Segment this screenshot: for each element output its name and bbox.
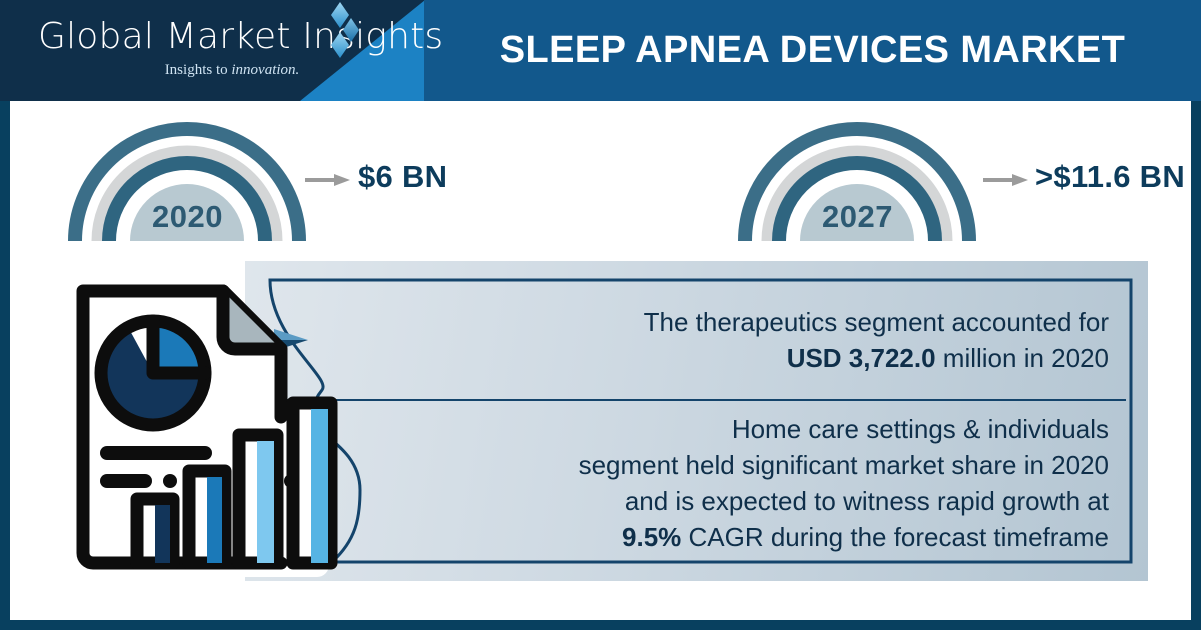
infographic-page: Global Market Insights Insights to innov… — [0, 0, 1201, 630]
logo-tagline-plain: Insights to — [165, 62, 232, 78]
insight-segment: Home care settings & individuals — [732, 414, 1109, 444]
insight-segment-bold: 9.5% — [622, 522, 681, 552]
insight-segment-bold: USD 3,722.0 — [787, 343, 936, 373]
metric-2020: 2020 $6 BN — [65, 115, 485, 265]
insight-segment: million in 2020 — [936, 343, 1109, 373]
report-document-icon — [65, 277, 345, 577]
insight-line: Home care settings & individuals — [322, 411, 1109, 447]
insight-line: USD 3,722.0 million in 2020 — [322, 340, 1109, 376]
insights-list: The therapeutics segment accounted for U… — [260, 278, 1133, 564]
insight-text-1: The therapeutics segment accounted for U… — [322, 304, 1133, 376]
insight-line: and is expected to witness rapid growth … — [322, 483, 1109, 519]
insight-segment: CAGR during the forecast timeframe — [681, 522, 1109, 552]
page-title: SLEEP APNEA DEVICES MARKET — [424, 0, 1201, 101]
metric-value-2027: >$11.6 BN — [1035, 159, 1185, 195]
metric-year-2027: 2027 — [735, 115, 980, 243]
metric-2027: 2027 >$11.6 BN — [735, 115, 1190, 265]
arrow-right-icon — [305, 173, 351, 187]
arrow-right-icon — [983, 173, 1029, 187]
header-bar: Global Market Insights Insights to innov… — [0, 0, 1201, 101]
insight-segment: The therapeutics segment accounted for — [644, 307, 1109, 337]
insight-line: 9.5% CAGR during the forecast timeframe — [322, 519, 1109, 555]
content-canvas: 2020 $6 BN 2027 >$11.6 BN — [10, 101, 1191, 620]
insight-text-2: Home care settings & individuals segment… — [322, 411, 1133, 555]
insight-segment: segment held significant market share in… — [579, 450, 1109, 480]
insight-line: The therapeutics segment accounted for — [322, 304, 1109, 340]
insight-item-2: Home care settings & individuals segment… — [260, 408, 1133, 558]
insights-divider — [266, 399, 1126, 401]
insight-item-1: The therapeutics segment accounted for U… — [260, 286, 1133, 394]
metric-value-2020: $6 BN — [358, 159, 447, 195]
metric-year-2020: 2020 — [65, 115, 310, 243]
logo-tagline-italic: innovation. — [231, 62, 299, 78]
insight-line: segment held significant market share in… — [322, 447, 1109, 483]
insight-segment: and is expected to witness rapid growth … — [625, 486, 1109, 516]
logo-diamond-icon — [320, 2, 360, 68]
